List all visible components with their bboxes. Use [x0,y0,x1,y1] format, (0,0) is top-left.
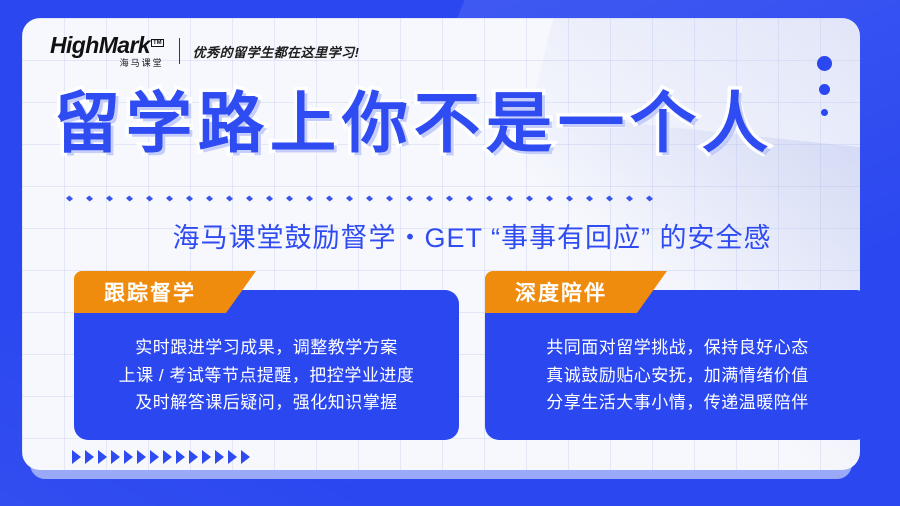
feature-line: 真诚鼓励贴心安抚，加满情绪价值 [501,362,854,390]
dash-mark-icon [66,195,73,201]
dash-mark-icon [146,195,153,201]
dash-mark-icon [226,195,233,201]
feature-card-tracking: 跟踪督学 实时跟进学习成果，调整教学方案 上课 / 考试等节点提醒，把控学业进度… [74,290,459,440]
arrow-right-icon [215,450,224,464]
dash-mark-icon [446,195,453,201]
dash-mark-icon [646,195,653,201]
feature-card-companionship: 深度陪伴 共同面对留学挑战，保持良好心态 真诚鼓励贴心安抚，加满情绪价值 分享生… [485,290,860,440]
dash-mark-icon [426,195,433,201]
arrow-right-icon [202,450,211,464]
dash-mark-icon [466,195,473,201]
dash-mark-icon [166,195,173,201]
dash-mark-icon [366,195,373,201]
arrow-right-icon [72,450,81,464]
dash-mark-icon [406,195,413,201]
dashed-divider [66,191,856,205]
dash-mark-icon [346,195,353,201]
dash-mark-icon [506,195,513,201]
dash-mark-icon [306,195,313,201]
feature-line: 实时跟进学习成果，调整教学方案 [90,334,443,362]
feature-line: 分享生活大事小情，传递温暖陪伴 [501,389,854,417]
dash-mark-icon [626,195,633,201]
poster-root: HighMarkTM 海马课堂 优秀的留学生都在这里学习! 留学路上你不是一个人… [0,0,900,506]
dash-mark-icon [246,195,253,201]
dash-mark-icon [126,195,133,201]
arrow-right-icon [124,450,133,464]
feature-line: 上课 / 考试等节点提醒，把控学业进度 [90,362,443,390]
dash-mark-icon [386,195,393,201]
dash-mark-icon [486,195,493,201]
dash-mark-icon [546,195,553,201]
page-subtitle: 海马课堂鼓励督学・GET “事事有回应” 的安全感 [22,216,860,255]
arrow-right-icon [163,450,172,464]
arrow-right-icon [111,450,120,464]
dash-mark-icon [186,195,193,201]
feature-card-companionship-banner: 深度陪伴 [485,271,667,313]
feature-card-companionship-title: 深度陪伴 [485,277,653,307]
feature-card-tracking-title: 跟踪督学 [74,277,242,307]
dash-mark-icon [526,195,533,201]
feature-line: 及时解答课后疑问，强化知识掌握 [90,389,443,417]
dash-mark-icon [86,195,93,201]
panel-content: HighMarkTM 海马课堂 优秀的留学生都在这里学习! 留学路上你不是一个人… [22,18,860,470]
dash-mark-icon [606,195,613,201]
feature-card-companionship-body: 共同面对留学挑战，保持良好心态 真诚鼓励贴心安抚，加满情绪价值 分享生活大事小情… [485,334,860,417]
dash-mark-icon [206,195,213,201]
dash-mark-icon [586,195,593,201]
content-panel: HighMarkTM 海马课堂 优秀的留学生都在这里学习! 留学路上你不是一个人… [22,18,860,470]
dash-mark-icon [566,195,573,201]
feature-card-tracking-body: 实时跟进学习成果，调整教学方案 上课 / 考试等节点提醒，把控学业进度 及时解答… [74,334,459,417]
feature-card-tracking-banner: 跟踪督学 [74,271,256,313]
arrow-right-icon [137,450,146,464]
dash-mark-icon [326,195,333,201]
headline-block: 留学路上你不是一个人 留学路上你不是一个人 [22,18,860,118]
arrow-right-icon [176,450,185,464]
feature-line: 共同面对留学挑战，保持良好心态 [501,334,854,362]
dash-mark-icon [286,195,293,201]
arrow-decoration-group [72,450,250,464]
arrow-right-icon [241,450,250,464]
feature-card-group: 跟踪督学 实时跟进学习成果，调整教学方案 上课 / 考试等节点提醒，把控学业进度… [74,290,860,440]
page-title: 留学路上你不是一个人 [54,90,860,156]
arrow-right-icon [85,450,94,464]
arrow-right-icon [98,450,107,464]
dash-mark-icon [266,195,273,201]
arrow-right-icon [189,450,198,464]
dash-mark-icon [106,195,113,201]
arrow-right-icon [150,450,159,464]
arrow-right-icon [228,450,237,464]
